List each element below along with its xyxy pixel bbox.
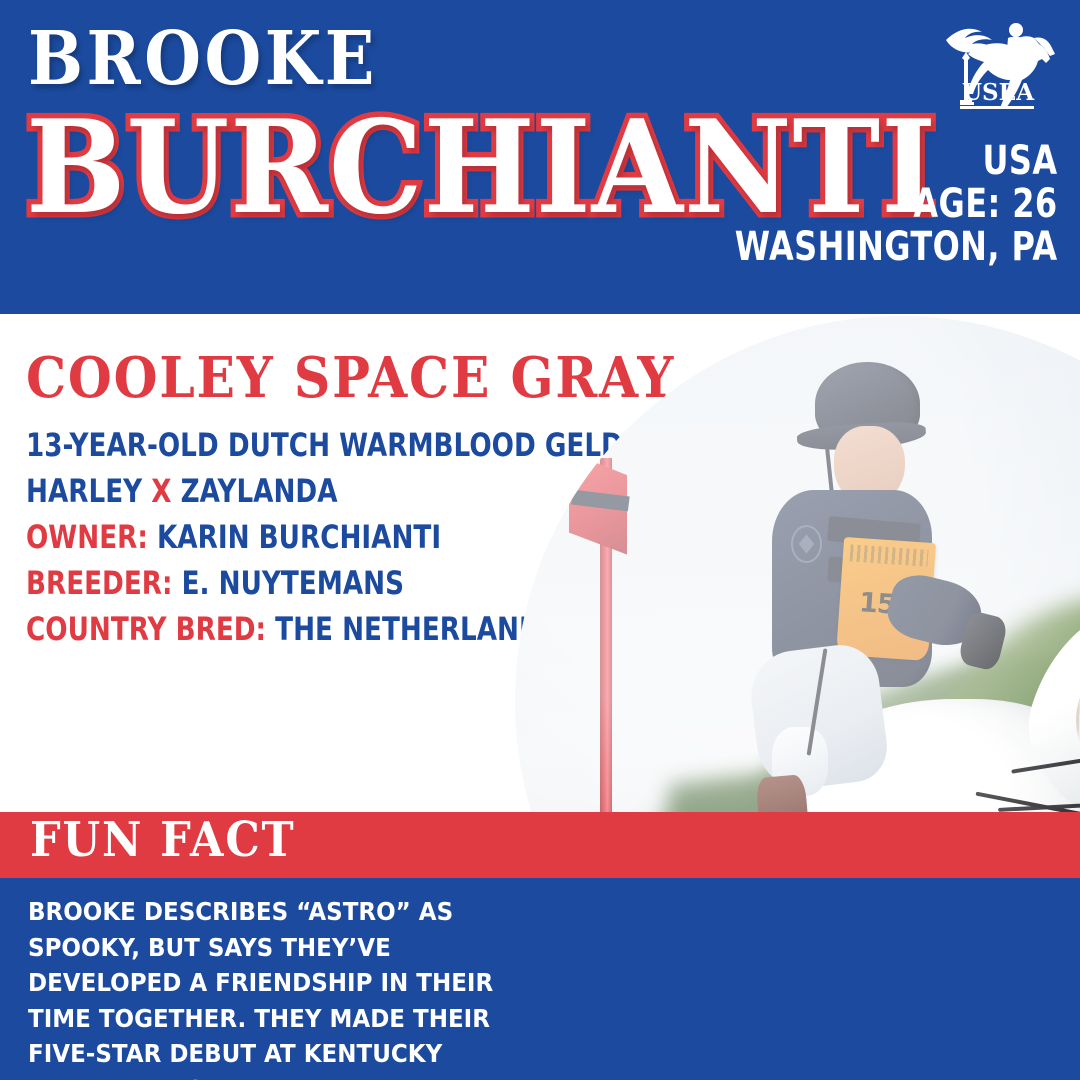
rider-figure: 154 (723, 362, 1031, 855)
horse-breeder-line: BREEDER: E. NUYTEMANS (26, 560, 534, 606)
rider-country: USA (735, 140, 1058, 183)
header: BROOKE BURCHIANTI USA AGE: 26 WASHINGTON… (0, 0, 1080, 314)
breeder-label: BREEDER: (26, 564, 172, 602)
fun-fact-body: BROOKE DESCRIBES “ASTRO” AS SPOOKY, BUT … (0, 878, 1080, 1080)
bib-sponsor-text (850, 544, 929, 566)
rider-hometown: WASHINGTON, PA (735, 226, 1058, 269)
rider-profile-card: 154 COOLEY SPACE GRAY 13-YEAR-OLD DUTCH … (0, 0, 1080, 1080)
usea-logo-text: USEA (962, 79, 1035, 106)
fun-fact-text: BROOKE DESCRIBES “ASTRO” AS SPOOKY, BUT … (28, 894, 497, 1080)
horse-pedigree-line: HARLEY X ZAYLANDA (26, 468, 534, 514)
rider-meta-block: USA AGE: 26 WASHINGTON, PA (735, 140, 1058, 270)
breeder-value: E. NUYTEMANS (182, 564, 404, 602)
pedigree-cross: X (151, 472, 171, 510)
fun-fact-banner: FUN FACT (0, 812, 1080, 878)
horse-owner-line: OWNER: KARIN BURCHIANTI (26, 514, 534, 560)
owner-label: OWNER: (26, 518, 148, 556)
rider-first-name: BROOKE (28, 22, 378, 96)
fun-fact-title: FUN FACT (30, 816, 295, 864)
sire-name: HARLEY (26, 472, 142, 510)
usea-logo: USEA (938, 14, 1056, 126)
dam-name: ZAYLANDA (181, 472, 338, 510)
owner-value: KARIN BURCHIANTI (157, 518, 441, 556)
horse-breed-line: 13-YEAR-OLD DUTCH WARMBLOOD GELDING (26, 422, 534, 468)
country-bred-label: COUNTRY BRED: (26, 610, 266, 648)
rider-age: AGE: 26 (735, 183, 1058, 226)
horse-country-bred-line: COUNTRY BRED: THE NETHERLANDS (26, 606, 534, 652)
